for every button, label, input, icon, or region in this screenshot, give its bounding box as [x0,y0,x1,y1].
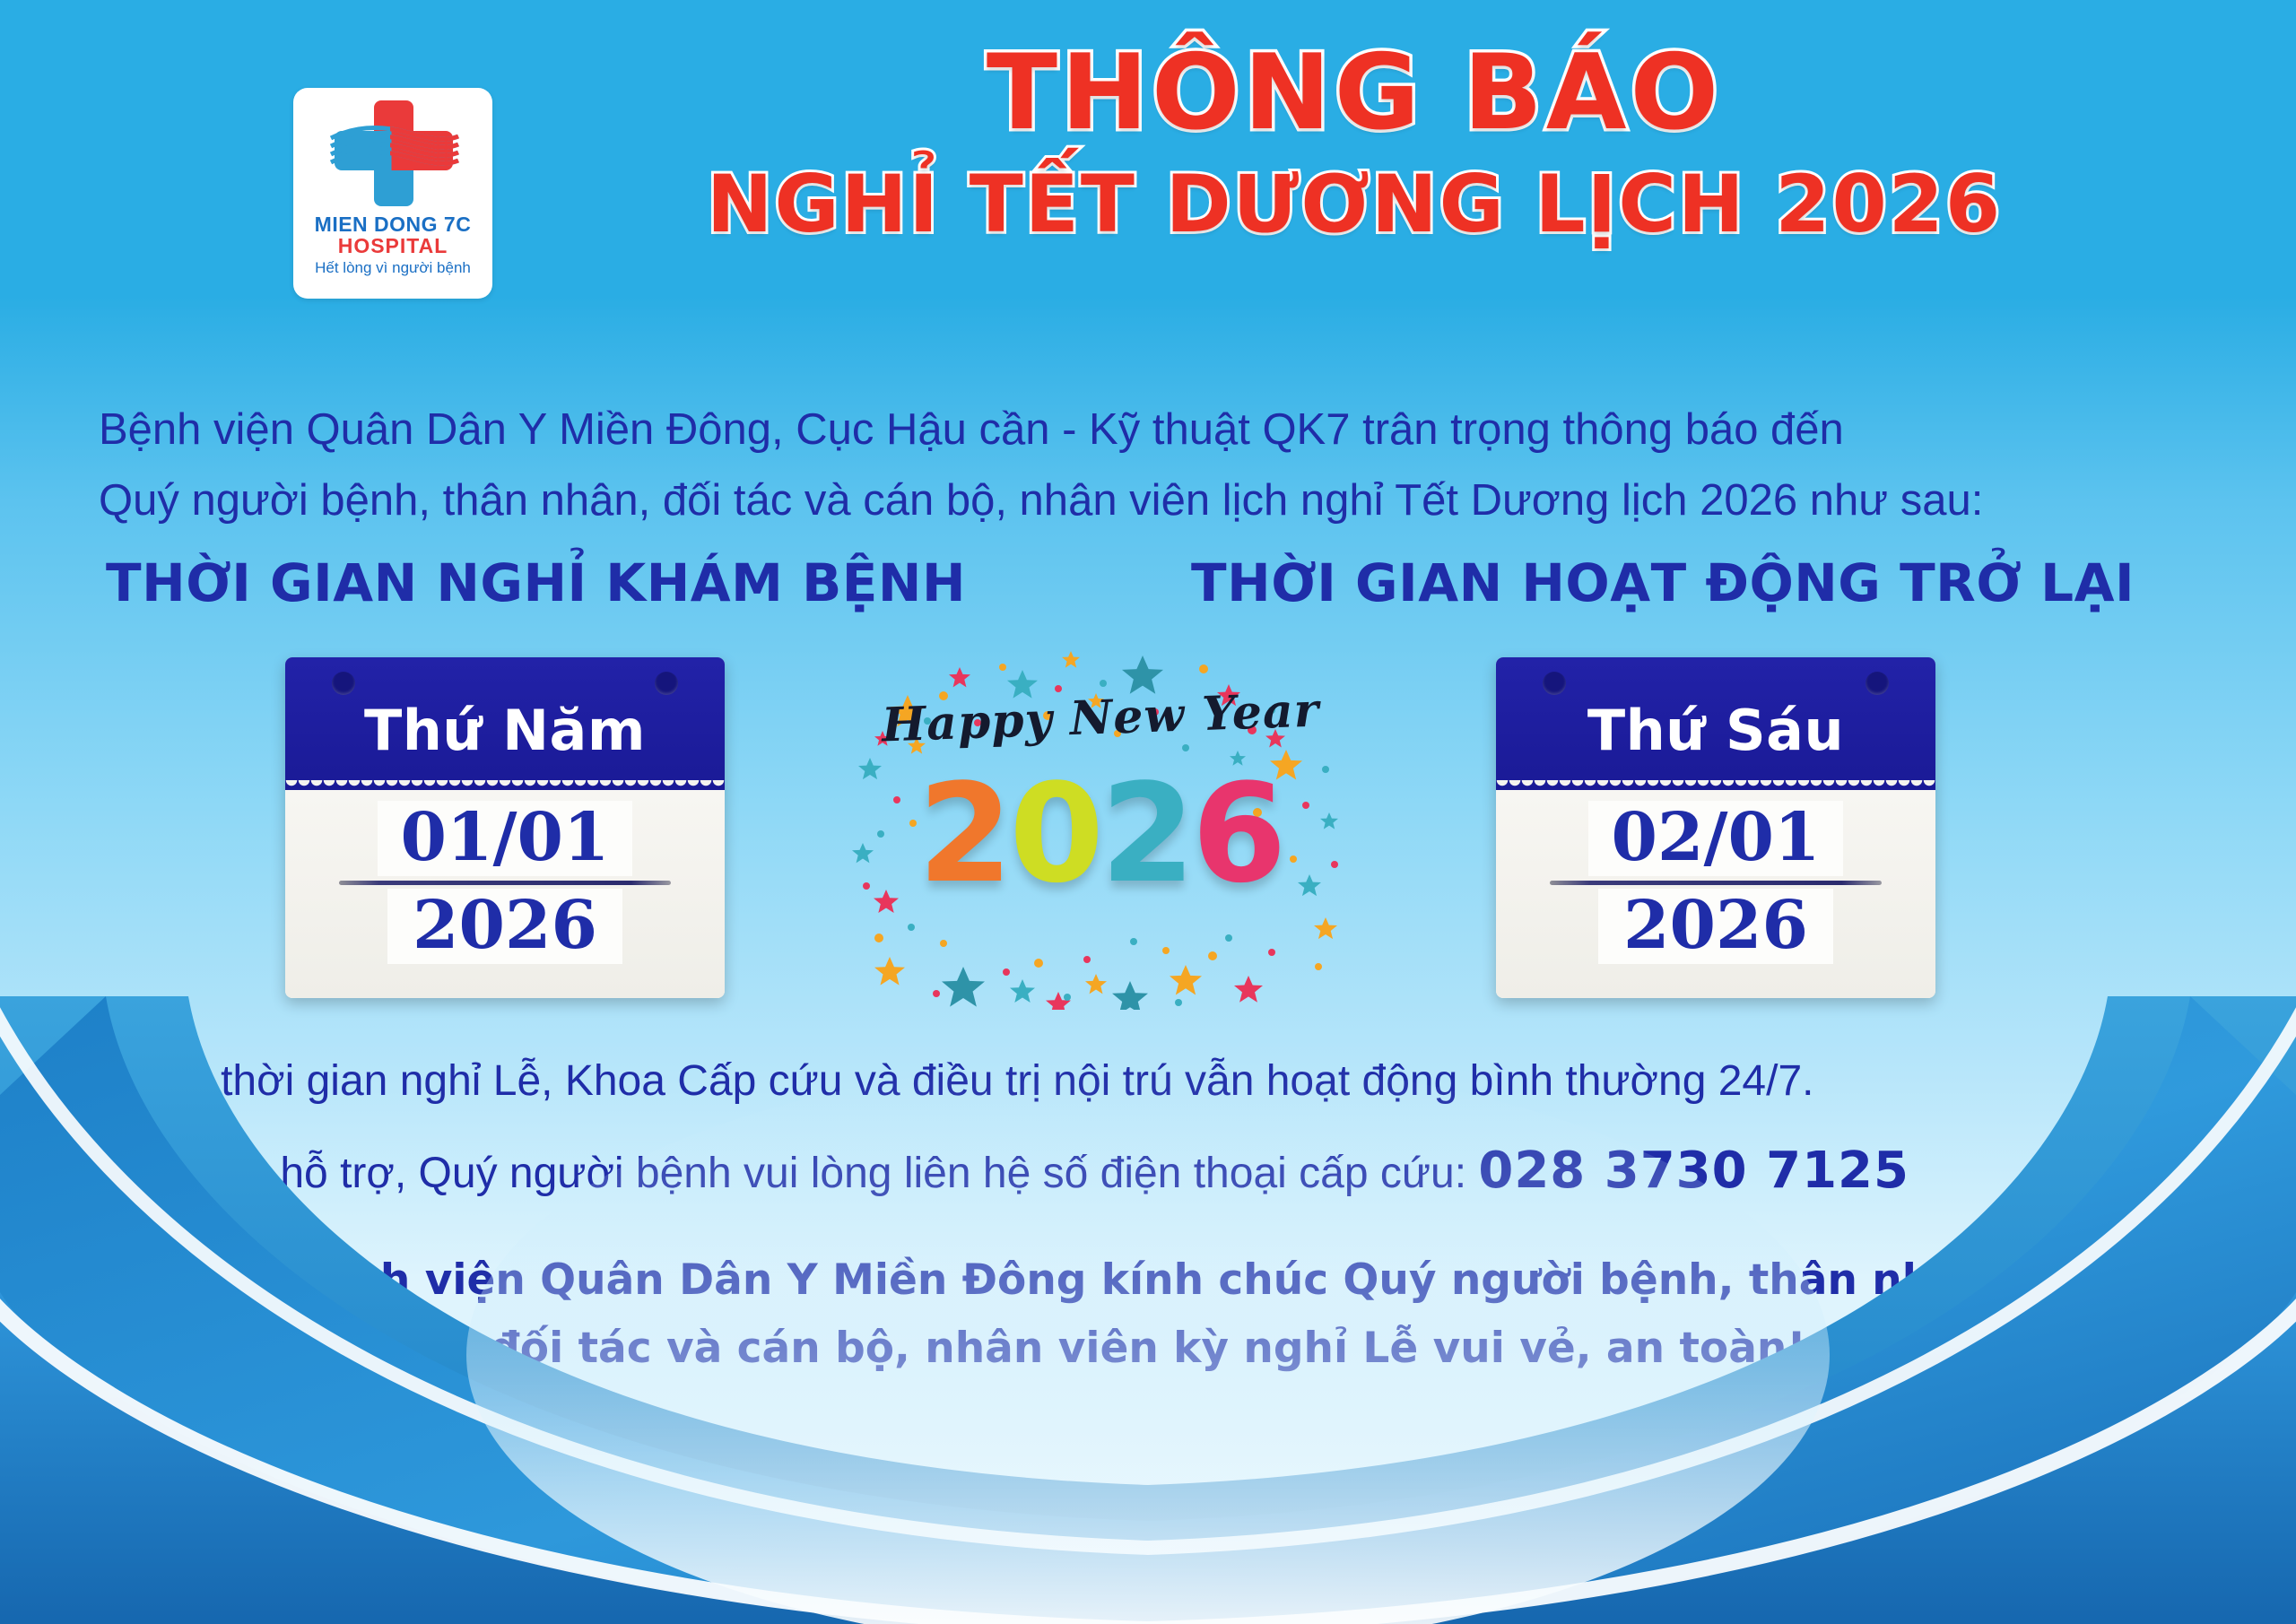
calendar-divider [1550,881,1882,885]
calendar-date-reopen: 02/01 [1588,801,1844,876]
calendar-peg-right-icon [1865,672,1889,695]
new-year-digits: 2026 [827,766,1374,902]
calendar-year-reopen: 2026 [1598,889,1833,964]
calendar-date-closed: 01/01 [378,801,633,876]
medical-cross-icon [326,97,460,212]
calendar-divider [339,881,671,885]
happy-new-year-graphic: Happy New Year 2026 [827,633,1374,1010]
page-subtitle: NGHỈ TẾT DƯƠNG LỊCH 2026 [502,165,2206,244]
page-title: THÔNG BÁO [502,41,2206,145]
new-year-digit-3: 2 [1100,754,1192,913]
ribbon-icon [329,124,460,172]
hospital-logo: MIEN DONG 7C HOSPITAL Hết lòng vì người … [293,88,492,299]
logo-name-line1: MIEN DONG 7C [315,213,472,235]
section-heading-closed: THỜI GIAN NGHỈ KHÁM BỆNH [106,552,966,613]
intro-line-1: Bệnh viện Quân Dân Y Miền Đông, Cục Hậu … [99,395,2215,465]
calendar-peg-left-icon [332,672,355,695]
logo-slogan: Hết lòng vì người bệnh [315,259,471,277]
calendar-card-reopen: Thứ Sáu 02/01 2026 [1496,657,1935,998]
calendar-year-closed: 2026 [387,889,622,964]
calendar-perforation-icon [1496,780,1935,791]
calendar-card-closed: Thứ Năm 01/01 2026 [285,657,725,998]
poster-header: MIEN DONG 7C HOSPITAL Hết lòng vì người … [0,0,2296,341]
new-year-digit-4: 6 [1192,754,1283,913]
logo-name-line2: HOSPITAL [338,235,448,257]
calendar-perforation-icon [285,780,725,791]
intro-paragraph: Bệnh viện Quân Dân Y Miền Đông, Cục Hậu … [99,395,2215,537]
calendar-header-reopen: Thứ Sáu [1496,657,1935,790]
calendar-body-closed: 01/01 2026 [285,790,725,998]
calendar-peg-right-icon [655,672,678,695]
calendar-header-closed: Thứ Năm [285,657,725,790]
calendar-body-reopen: 02/01 2026 [1496,790,1935,998]
section-heading-reopen: THỜI GIAN HOẠT ĐỘNG TRỞ LẠI [1191,552,2135,613]
new-year-digit-2: 0 [1009,754,1100,913]
decorative-wave-graphic [0,996,2296,1624]
intro-line-2: Quý người bệnh, thân nhân, đối tác và cá… [99,465,2215,536]
calendar-peg-left-icon [1543,672,1566,695]
calendar-weekday-closed: Thứ Năm [364,698,646,763]
calendar-weekday-reopen: Thứ Sáu [1587,698,1844,763]
title-block: THÔNG BÁO NGHỈ TẾT DƯƠNG LỊCH 2026 [502,41,2206,244]
new-year-digit-1: 2 [918,754,1009,913]
notice-poster: MIEN DONG 7C HOSPITAL Hết lòng vì người … [0,0,2296,1624]
